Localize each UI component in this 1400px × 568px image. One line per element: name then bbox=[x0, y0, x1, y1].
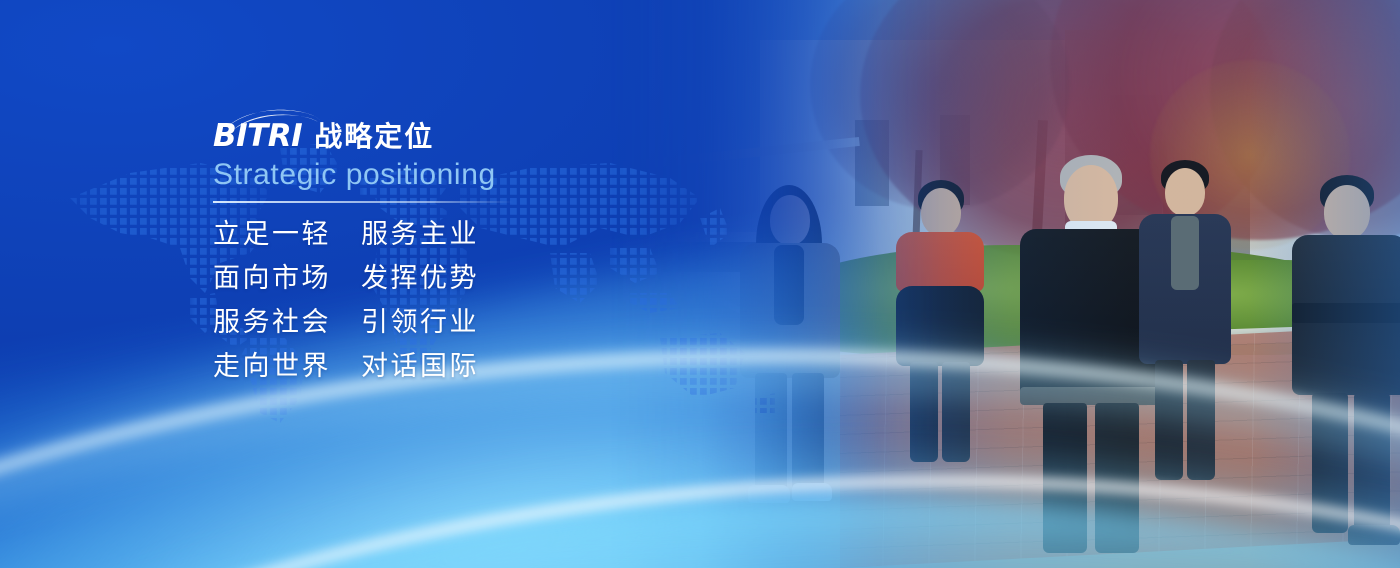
title-divider bbox=[213, 201, 513, 203]
slogan-row: 立足一轻 服务主业 bbox=[213, 221, 643, 248]
slogan-left: 服务社会 bbox=[213, 309, 331, 336]
slogan-row: 走向世界 对话国际 bbox=[213, 353, 643, 380]
slogan-right: 对话国际 bbox=[361, 353, 479, 380]
photo-right-edge-fade bbox=[1250, 0, 1400, 568]
bitri-logo[interactable]: BITRI bbox=[213, 112, 302, 152]
slogan-right: 引领行业 bbox=[361, 309, 479, 336]
people-walking-photo bbox=[610, 0, 1400, 568]
slogan-right: 发挥优势 bbox=[361, 265, 479, 292]
slogan-list: 立足一轻 服务主业 面向市场 发挥优势 服务社会 引领行业 走向世界 对话国际 bbox=[213, 221, 643, 380]
slogan-row: 面向市场 发挥优势 bbox=[213, 265, 643, 292]
page-subtitle-en: Strategic positioning bbox=[213, 159, 643, 191]
slogan-left: 立足一轻 bbox=[213, 221, 331, 248]
slogan-left: 走向世界 bbox=[213, 353, 331, 380]
title-row: BITRI 战略定位 bbox=[213, 110, 643, 152]
hero-banner: BITRI 战略定位 Strategic positioning 立足一轻 服务… bbox=[0, 0, 1400, 568]
page-title-cn: 战略定位 bbox=[314, 123, 434, 152]
hero-copy: BITRI 战略定位 Strategic positioning 立足一轻 服务… bbox=[213, 110, 643, 380]
slogan-right: 服务主业 bbox=[361, 221, 479, 248]
slogan-left: 面向市场 bbox=[213, 265, 331, 292]
slogan-row: 服务社会 引领行业 bbox=[213, 309, 643, 336]
swoosh-arc-icon bbox=[225, 109, 321, 131]
